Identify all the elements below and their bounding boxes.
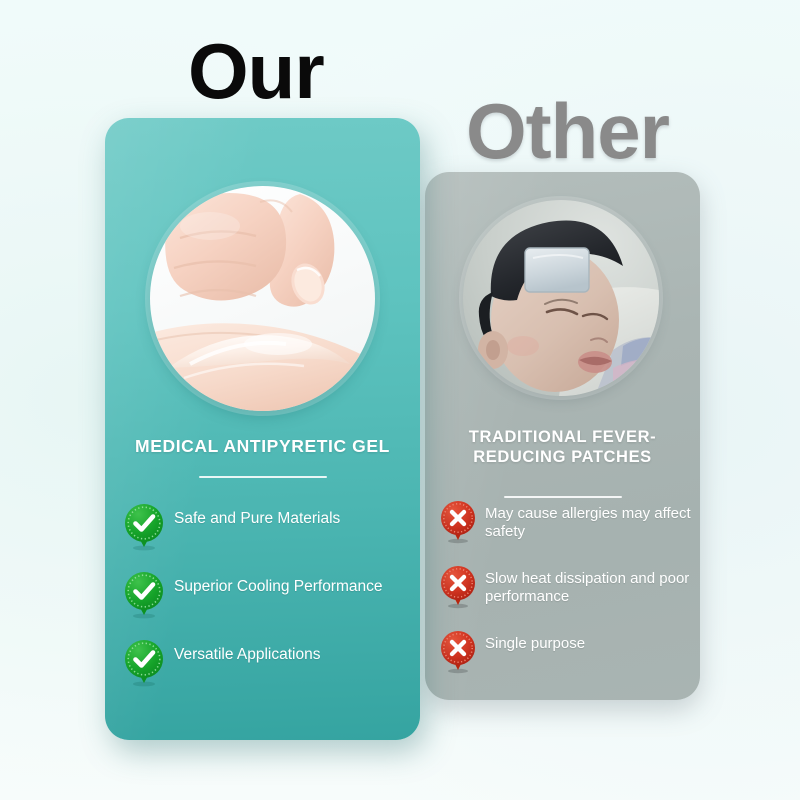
sleeping-child-with-forehead-patch-photo — [463, 200, 659, 396]
title-divider — [504, 496, 622, 498]
list-item: Slow heat dissipation and poor performan… — [439, 565, 700, 609]
finger-applying-gel-to-skin-photo — [150, 186, 375, 411]
check-badge-icon — [123, 503, 165, 551]
comparison-infographic: Our Other — [0, 0, 800, 800]
list-item-label: May cause allergies may affect safety — [485, 500, 699, 540]
other-feature-list: May cause allergies may affect safety Sl… — [425, 500, 700, 695]
heading-other: Other — [466, 92, 669, 170]
check-badge-icon — [123, 639, 165, 687]
list-item-label: Versatile Applications — [174, 639, 320, 664]
list-item: May cause allergies may affect safety — [439, 500, 700, 544]
list-item-label: Superior Cooling Performance — [174, 571, 383, 596]
card-other-title: TRADITIONAL FEVER-REDUCING PATCHES — [425, 427, 700, 467]
list-item-label: Single purpose — [485, 630, 585, 653]
list-item: Single purpose — [439, 630, 700, 674]
list-item: Versatile Applications — [123, 639, 420, 687]
list-item: Safe and Pure Materials — [123, 503, 420, 551]
heading-our: Our — [188, 32, 324, 110]
title-divider — [199, 476, 327, 478]
card-our-title: MEDICAL ANTIPYRETIC GEL — [105, 436, 420, 457]
cross-badge-icon — [439, 565, 477, 609]
our-feature-list: Safe and Pure Materials Superior Cooling… — [105, 503, 420, 707]
card-other-product: TRADITIONAL FEVER-REDUCING PATCHES — [425, 172, 700, 700]
list-item: Superior Cooling Performance — [123, 571, 420, 619]
list-item-label: Slow heat dissipation and poor performan… — [485, 565, 699, 605]
check-badge-icon — [123, 571, 165, 619]
card-our-product: MEDICAL ANTIPYRETIC GEL — [105, 118, 420, 740]
cross-badge-icon — [439, 630, 477, 674]
cross-badge-icon — [439, 500, 477, 544]
list-item-label: Safe and Pure Materials — [174, 503, 340, 528]
